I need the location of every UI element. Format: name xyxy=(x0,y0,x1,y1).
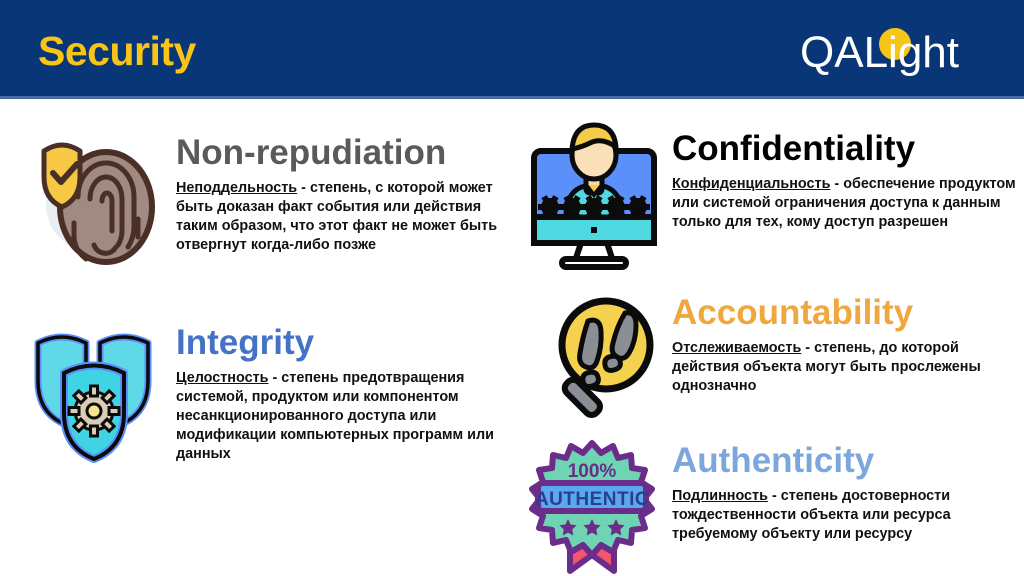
monitor-password-icon xyxy=(524,121,664,271)
concept-title-integrity: Integrity xyxy=(176,325,512,361)
concept-description-authenticity: Подлинность - степень достоверности тожд… xyxy=(672,487,1016,544)
concept-separator: - xyxy=(269,370,282,386)
badge-label-text: AUTHENTIC xyxy=(535,489,649,510)
concept-block-non-repudiation: Non-repudiation Неподдельность - степень… xyxy=(30,127,512,272)
right-column: Confidentiality Конфиденциальность - обе… xyxy=(512,99,1024,576)
authentic-badge-icon: 100% AUTHENTIC xyxy=(524,439,664,575)
concept-title-non-repudiation: Non-repudiation xyxy=(176,135,512,171)
left-column: Non-repudiation Неподдельность - степень… xyxy=(0,99,512,576)
concept-term-integrity: Целостность xyxy=(176,370,269,386)
concept-separator: - xyxy=(768,488,781,504)
concept-title-accountability: Accountability xyxy=(672,295,1016,331)
shields-gear-icon xyxy=(30,327,170,459)
qalight-logo: QALight xyxy=(800,27,990,79)
slide-content: Non-repudiation Неподдельность - степень… xyxy=(0,99,1024,576)
concept-description-integrity: Целостность - степень предотвращения сис… xyxy=(176,369,512,465)
concept-text-accountability: Accountability Отслеживаемость - степень… xyxy=(672,291,1016,425)
concept-description-non-repudiation: Неподдельность - степень, с которой може… xyxy=(176,179,512,256)
concept-description-accountability: Отслеживаемость - степень, до которой де… xyxy=(672,339,1016,396)
magnifier-footprints-icon xyxy=(524,295,664,425)
logo-text: QALight xyxy=(800,28,959,77)
slide-header: Security QALight xyxy=(0,0,1024,99)
concept-description-confidentiality: Конфиденциальность - обеспечение продукт… xyxy=(672,175,1016,232)
slide: Security QALight xyxy=(0,0,1024,576)
fingerprint-shield-icon xyxy=(30,127,170,272)
concept-separator: - xyxy=(801,340,814,356)
concept-text-integrity: Integrity Целостность - степень предотвр… xyxy=(176,321,512,464)
page-title: Security xyxy=(38,31,196,72)
concept-separator: - xyxy=(830,176,843,192)
concept-block-authenticity: 100% AUTHENTIC Authenticity Подлинность … xyxy=(524,439,1016,575)
concept-text-confidentiality: Confidentiality Конфиденциальность - обе… xyxy=(672,121,1016,271)
concept-separator: - xyxy=(297,180,310,196)
concept-block-integrity: Integrity Целостность - степень предотвр… xyxy=(30,321,512,464)
concept-term-accountability: Отслеживаемость xyxy=(672,340,801,356)
concept-block-accountability: Accountability Отслеживаемость - степень… xyxy=(524,291,1016,425)
badge-percent-text: 100% xyxy=(568,461,617,482)
concept-title-confidentiality: Confidentiality xyxy=(672,131,1016,167)
concept-term-confidentiality: Конфиденциальность xyxy=(672,176,830,192)
concept-text-non-repudiation: Non-repudiation Неподдельность - степень… xyxy=(176,127,512,272)
qalight-logo-svg: QALight xyxy=(800,27,990,79)
concept-term-authenticity: Подлинность xyxy=(672,488,768,504)
concept-text-authenticity: Authenticity Подлинность - степень досто… xyxy=(672,439,1016,575)
concept-term-non-repudiation: Неподдельность xyxy=(176,180,297,196)
concept-title-authenticity: Authenticity xyxy=(672,443,1016,479)
concept-block-confidentiality: Confidentiality Конфиденциальность - обе… xyxy=(524,121,1016,271)
